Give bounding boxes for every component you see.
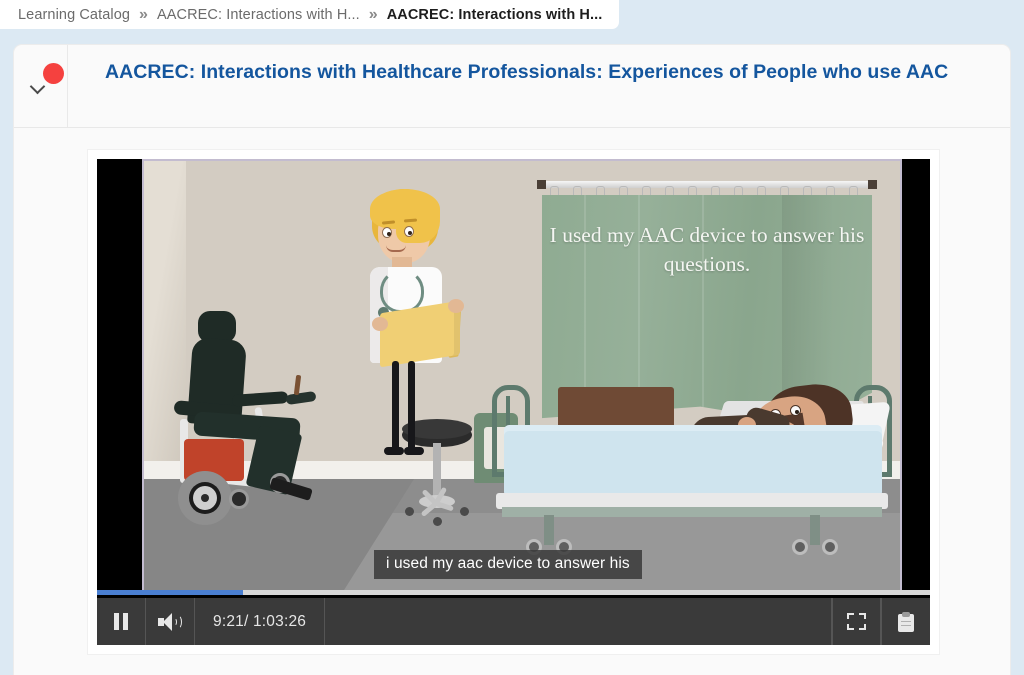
controls-spacer <box>325 598 832 645</box>
breadcrumb-separator-icon: » <box>139 7 148 23</box>
time-display: 9:21/ 1:03:26 <box>195 598 325 645</box>
pause-icon <box>114 613 128 630</box>
pause-button[interactable] <box>97 598 146 645</box>
video-overlay-text: I used my AAC device to answer his quest… <box>544 221 870 279</box>
breadcrumb-item-current: AACREC: Interactions with H... <box>387 7 603 23</box>
powered-wheelchair <box>174 311 324 526</box>
hospital-bed <box>492 385 892 575</box>
mattress <box>504 431 882 497</box>
player-controls: 9:21/ 1:03:26 <box>97 598 930 645</box>
page-title: AACREC: Interactions with Healthcare Pro… <box>68 45 1010 127</box>
course-header: AACREC: Interactions with Healthcare Pro… <box>14 45 1010 128</box>
clipboard-icon <box>898 612 914 632</box>
course-card: AACREC: Interactions with Healthcare Pro… <box>14 45 1010 675</box>
breadcrumb-separator-icon: » <box>369 7 378 23</box>
bed-caster <box>822 539 838 555</box>
fullscreen-button[interactable] <box>832 598 881 645</box>
video-scene-illustration: I used my AAC device to answer his quest… <box>144 161 900 593</box>
video-caption: i used my aac device to answer his <box>374 550 642 579</box>
breadcrumb-item-learning-catalog[interactable]: Learning Catalog <box>18 7 130 23</box>
fullscreen-icon <box>847 613 866 630</box>
wheelchair-caster <box>229 489 249 509</box>
video-stage[interactable]: I used my AAC device to answer his quest… <box>142 159 902 595</box>
curtain-rail-cap-left <box>537 180 546 189</box>
header-gutter <box>14 45 68 127</box>
transcript-button[interactable] <box>881 598 930 645</box>
curtain-rail-cap-right <box>868 180 877 189</box>
chevron-down-icon[interactable] <box>30 80 47 97</box>
bed-caster <box>792 539 808 555</box>
breadcrumb-item-course-parent[interactable]: AACREC: Interactions with H... <box>157 7 360 23</box>
nurse-character <box>356 189 476 459</box>
volume-icon <box>158 613 182 631</box>
video-player[interactable]: I used my AAC device to answer his quest… <box>97 159 930 645</box>
volume-button[interactable] <box>146 598 195 645</box>
breadcrumb: Learning Catalog » AACREC: Interactions … <box>0 0 619 29</box>
video-player-frame: I used my AAC device to answer his quest… <box>88 150 939 654</box>
progress-bar[interactable] <box>97 590 930 595</box>
progress-bar-fill <box>97 590 243 595</box>
